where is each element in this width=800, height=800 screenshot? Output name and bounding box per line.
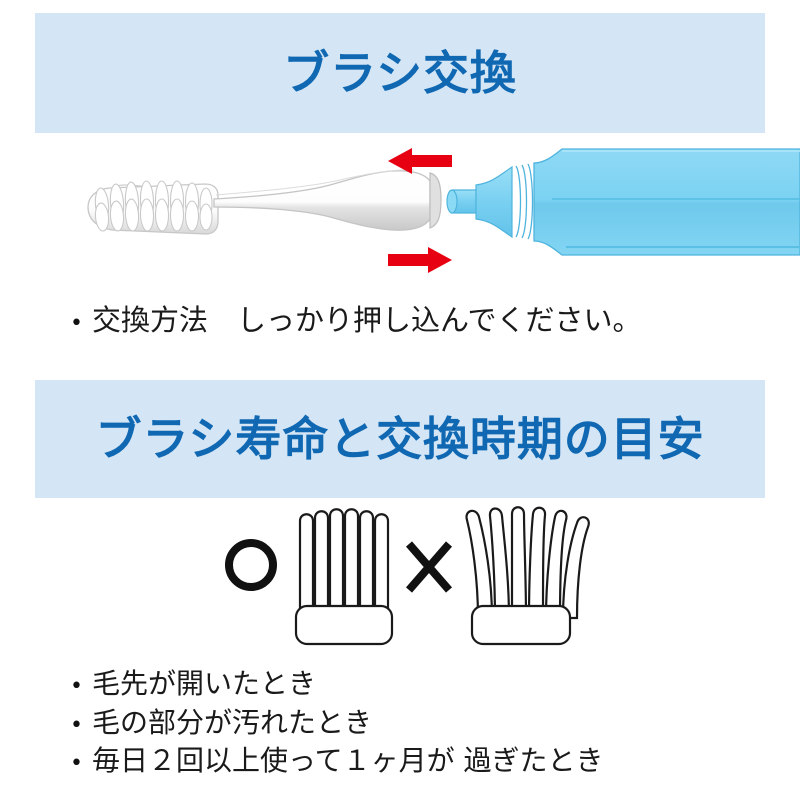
list-item: 毛の部分が汚れたとき [70,704,770,743]
bullet-dot-icon [70,676,92,698]
section-header-brush-life: ブラシ寿命と交換時期の目安 [35,380,765,498]
brush-attach-svg [0,133,800,298]
bullet-dot-icon [70,753,92,775]
arrow-right-icon [388,247,452,273]
bristles-splayed-bad [467,507,589,644]
connector-cone [476,167,512,237]
bristle-base-good [296,606,392,644]
list-item: 交換方法 しっかり押し込んでください。 [70,300,770,340]
bristles-straight-good [296,509,392,644]
bristle-base-bad [472,606,570,644]
bullet-list-brush-life: 毛先が開いたとき 毛の部分が汚れたとき 毎日２回以上使って１ヶ月が 過ぎたとき [70,665,770,781]
list-item-label: 毛の部分が汚れたとき [92,704,372,743]
handle-body [534,149,800,255]
list-item-label: 毎日２回以上使って１ヶ月が 過ぎたとき [92,742,604,781]
brush-head-part [88,170,441,298]
handle-body-part [447,149,800,255]
section-title-brush-replacement: ブラシ交換 [283,50,517,96]
bullet-list-brush-replacement: 交換方法 しっかり押し込んでください。 [70,300,770,340]
instruction-page: ブラシ交換 [0,0,800,800]
section-title-brush-life: ブラシ寿命と交換時期の目安 [95,416,704,462]
circle-mark-icon [229,543,273,587]
connector-rings [516,164,533,239]
brush-head-attach-diagram [0,133,800,298]
cross-mark-icon [409,544,449,590]
list-item-label: 交換方法 しっかり押し込んでください。 [92,300,642,340]
list-item: 毎日２回以上使って１ヶ月が 過ぎたとき [70,742,770,781]
bristle-comparison-svg [0,498,800,658]
section-header-brush-replacement: ブラシ交換 [35,13,765,133]
bullet-dot-icon [70,313,92,335]
bullet-dot-icon [70,715,92,737]
list-item-label: 毛先が開いたとき [92,665,316,704]
bristle-condition-comparison [0,498,800,658]
list-item: 毛先が開いたとき [70,665,770,704]
